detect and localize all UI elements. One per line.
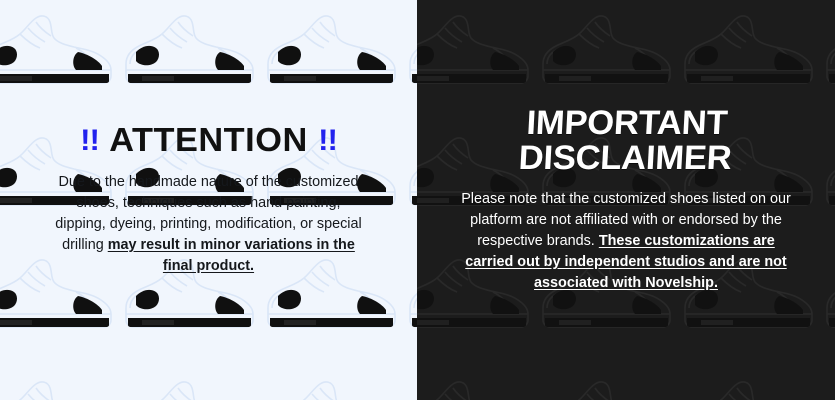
disclaimer-banner: !!ATTENTION!! Due to the handmade nature…	[0, 0, 835, 400]
disclaimer-heading-line-1: IMPORTANT	[526, 104, 729, 142]
disclaimer-heading: IMPORTANT DISCLAIMER	[435, 106, 816, 175]
attention-heading: !!ATTENTION!!	[17, 123, 401, 156]
double-exclamation-left-icon: !!	[80, 124, 99, 157]
attention-panel: !!ATTENTION!! Due to the handmade nature…	[0, 0, 417, 400]
attention-body-text: Due to the handmade nature of the custom…	[53, 172, 365, 276]
disclaimer-panel: IMPORTANT DISCLAIMER Please note that th…	[417, 0, 835, 400]
disclaimer-panel-content: IMPORTANT DISCLAIMER Please note that th…	[417, 106, 835, 294]
attention-panel-content: !!ATTENTION!! Due to the handmade nature…	[0, 123, 417, 276]
double-exclamation-right-icon: !!	[318, 124, 337, 157]
disclaimer-heading-line-2: DISCLAIMER	[518, 139, 733, 177]
disclaimer-body-text: Please note that the customized shoes li…	[461, 189, 791, 293]
attention-body-emphasis: may result in minor variations in the fi…	[108, 237, 355, 274]
attention-heading-text: ATTENTION	[109, 121, 308, 158]
